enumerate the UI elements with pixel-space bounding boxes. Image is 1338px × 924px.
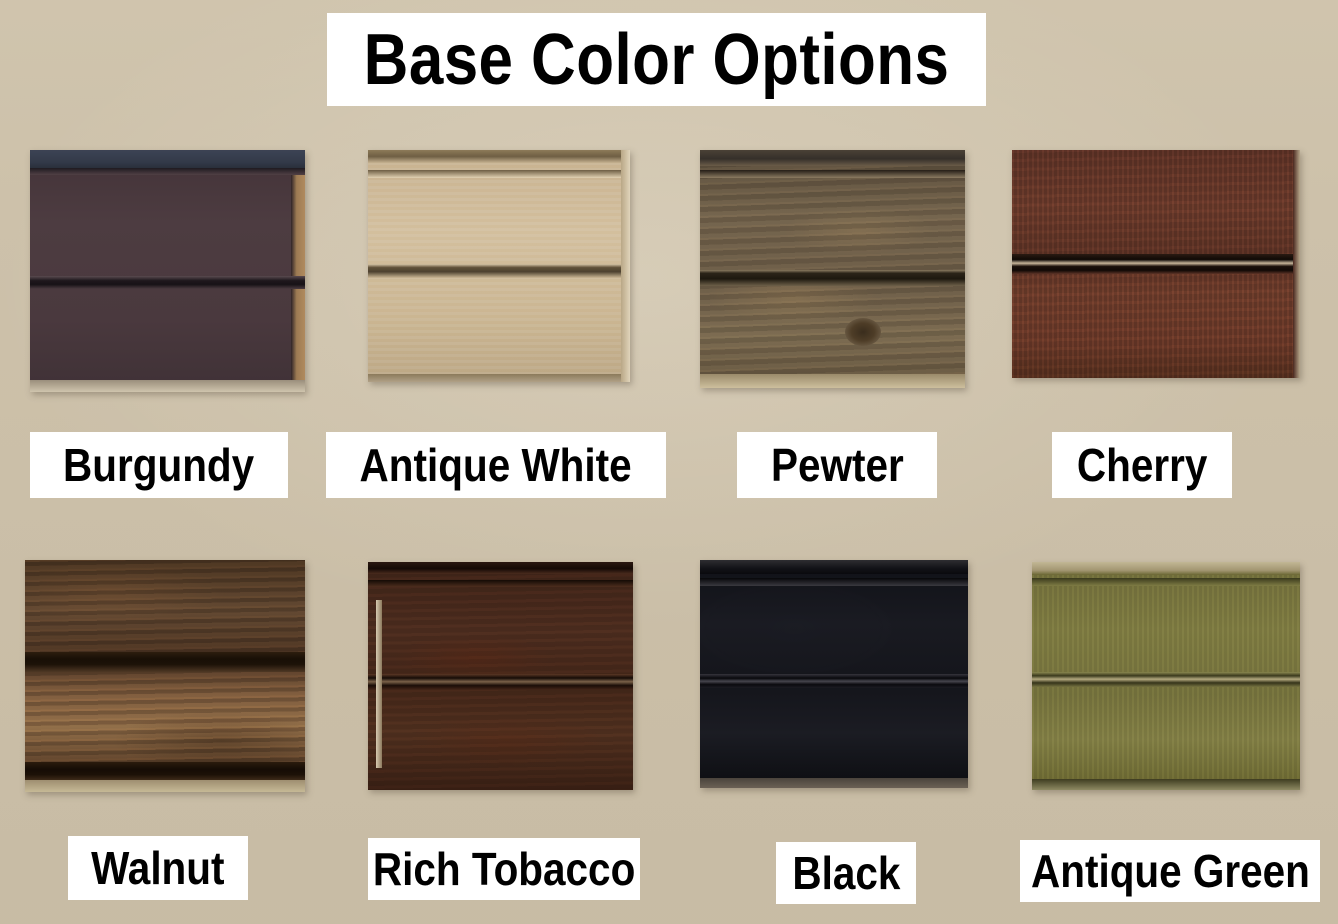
swatch-antique-white[interactable]: [368, 150, 630, 382]
swatch-walnut[interactable]: [25, 560, 305, 792]
page-title-box: Base Color Options: [327, 13, 986, 106]
label-box-burgundy: Burgundy: [30, 432, 288, 498]
label-box-walnut: Walnut: [68, 836, 248, 900]
swatch-face: [1032, 562, 1300, 790]
swatch-face: [1012, 150, 1300, 378]
label-box-rich-tobacco: Rich Tobacco: [368, 838, 640, 900]
swatch-face: [700, 560, 968, 788]
swatch-label: Rich Tobacco: [373, 846, 635, 892]
label-box-antique-green: Antique Green: [1020, 840, 1320, 902]
swatch-pewter[interactable]: [700, 150, 965, 388]
swatch-side-edge: [376, 600, 382, 768]
label-box-pewter: Pewter: [737, 432, 937, 498]
swatch-knot-icon: [845, 318, 881, 346]
swatch-label: Walnut: [91, 845, 224, 891]
swatch-cherry[interactable]: [1012, 150, 1300, 378]
label-box-black: Black: [776, 842, 916, 904]
color-options-board: Base Color Options Bur: [0, 0, 1338, 924]
swatch-face: [368, 562, 633, 790]
swatch-label: Burgundy: [63, 442, 254, 488]
swatch-label: Pewter: [771, 442, 904, 488]
swatch-burgundy[interactable]: [30, 150, 305, 392]
swatch-antique-green[interactable]: [1032, 562, 1300, 790]
swatch-label: Cherry: [1077, 442, 1208, 488]
swatch-face: [700, 150, 965, 388]
swatch-face: [30, 150, 305, 392]
label-box-antique-white: Antique White: [326, 432, 666, 498]
swatch-black[interactable]: [700, 560, 968, 788]
swatch-face: [25, 560, 305, 792]
page-title: Base Color Options: [364, 24, 950, 96]
swatch-label: Antique White: [360, 442, 632, 488]
label-box-cherry: Cherry: [1052, 432, 1232, 498]
swatch-face: [368, 150, 630, 382]
swatch-label: Antique Green: [1031, 848, 1310, 894]
swatch-rich-tobacco[interactable]: [368, 562, 633, 790]
swatch-label: Black: [792, 850, 900, 896]
